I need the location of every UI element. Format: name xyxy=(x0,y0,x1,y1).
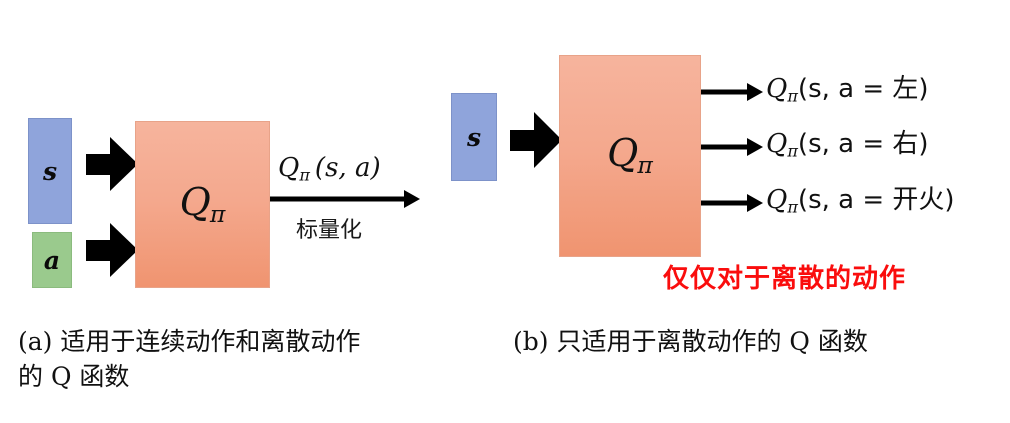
arrow-shaft xyxy=(701,90,749,95)
panel-b-output-3-args: (s, a = 开火) xyxy=(798,185,955,215)
panel-a-output-args: (s, a) xyxy=(315,153,381,183)
panel-b-output-1-main: Q xyxy=(766,74,787,104)
panel-a-network-label: Qπ xyxy=(180,183,226,226)
panel-b-network-label: Qπ xyxy=(607,134,653,177)
panel-b-output-3-sub: π xyxy=(787,198,798,217)
panel-a-caption: (a) 适用于连续动作和离散动作 的 Q 函数 xyxy=(18,325,488,394)
panel-b-state-label: s xyxy=(467,125,481,150)
panel-a-state-label: s xyxy=(43,159,57,184)
arrow-head xyxy=(747,83,763,101)
panel-a-state-arrow xyxy=(86,137,138,191)
arrow-tail xyxy=(86,240,112,261)
panel-b-output-2-sub: π xyxy=(787,142,798,161)
panel-b-output-3-main: Q xyxy=(766,185,787,215)
panel-b-output-label-1: Qπ(s, a = 左) xyxy=(766,76,929,105)
panel-a-action-block: a xyxy=(32,232,72,288)
panel-a-network-block: Qπ xyxy=(135,121,270,288)
arrow-shaft xyxy=(270,197,406,202)
panel-b-state-block: s xyxy=(451,93,497,181)
panel-a-output-sub: π xyxy=(299,166,310,185)
arrow-head xyxy=(110,223,138,277)
arrow-head xyxy=(110,137,138,191)
arrow-head xyxy=(747,138,763,156)
arrow-shaft xyxy=(701,201,749,206)
panel-b-state-arrow xyxy=(510,112,562,168)
panel-b-output-1-sub: π xyxy=(787,87,798,106)
arrow-tail xyxy=(510,130,536,151)
panel-b-network-label-sub: π xyxy=(637,151,652,179)
panel-b-output-label-3: Qπ(s, a = 开火) xyxy=(766,187,955,216)
panel-a-output-note: 标量化 xyxy=(296,212,362,244)
panel-a-network-label-sub: π xyxy=(210,200,225,228)
panel-b-network-block: Qπ xyxy=(559,55,701,257)
panel-b-output-arrow-3 xyxy=(701,194,763,212)
panel-a-network-label-main: Q xyxy=(180,180,211,224)
panel-b-output-label-2: Qπ(s, a = 右) xyxy=(766,131,929,160)
arrow-head xyxy=(534,112,562,168)
arrow-head xyxy=(747,194,763,212)
panel-b-output-arrow-1 xyxy=(701,83,763,101)
panel-a-caption-line1: (a) 适用于连续动作和离散动作 xyxy=(18,325,488,360)
arrow-tail xyxy=(86,154,112,175)
panel-b-caption: (b) 只适用于离散动作的 Q 函数 xyxy=(513,325,1003,360)
figure-canvas: s a Qπ Qπ(s, a) 标量化 (a) 适用于连续动作和离散动作 的 Q… xyxy=(0,0,1010,423)
panel-a-output-label: Qπ(s, a) xyxy=(278,155,381,184)
panel-a-state-block: s xyxy=(28,118,72,224)
panel-b-output-arrow-2 xyxy=(701,138,763,156)
panel-b-discrete-note: 仅仅对于离散的动作 xyxy=(663,258,906,295)
panel-b-output-2-args: (s, a = 右) xyxy=(798,129,929,159)
panel-a-caption-line2: 的 Q 函数 xyxy=(18,360,488,395)
panel-b-caption-line1: (b) 只适用于离散动作的 Q 函数 xyxy=(513,325,1003,360)
panel-b-output-2-main: Q xyxy=(766,129,787,159)
panel-b-output-1-args: (s, a = 左) xyxy=(798,74,929,104)
panel-a-action-label: a xyxy=(44,248,60,273)
arrow-shaft xyxy=(701,145,749,150)
arrow-head xyxy=(404,190,420,208)
panel-a-output-main: Q xyxy=(278,153,299,183)
panel-b-network-label-main: Q xyxy=(607,131,638,175)
panel-a-action-arrow xyxy=(86,223,138,277)
panel-a-output-arrow xyxy=(270,190,420,208)
